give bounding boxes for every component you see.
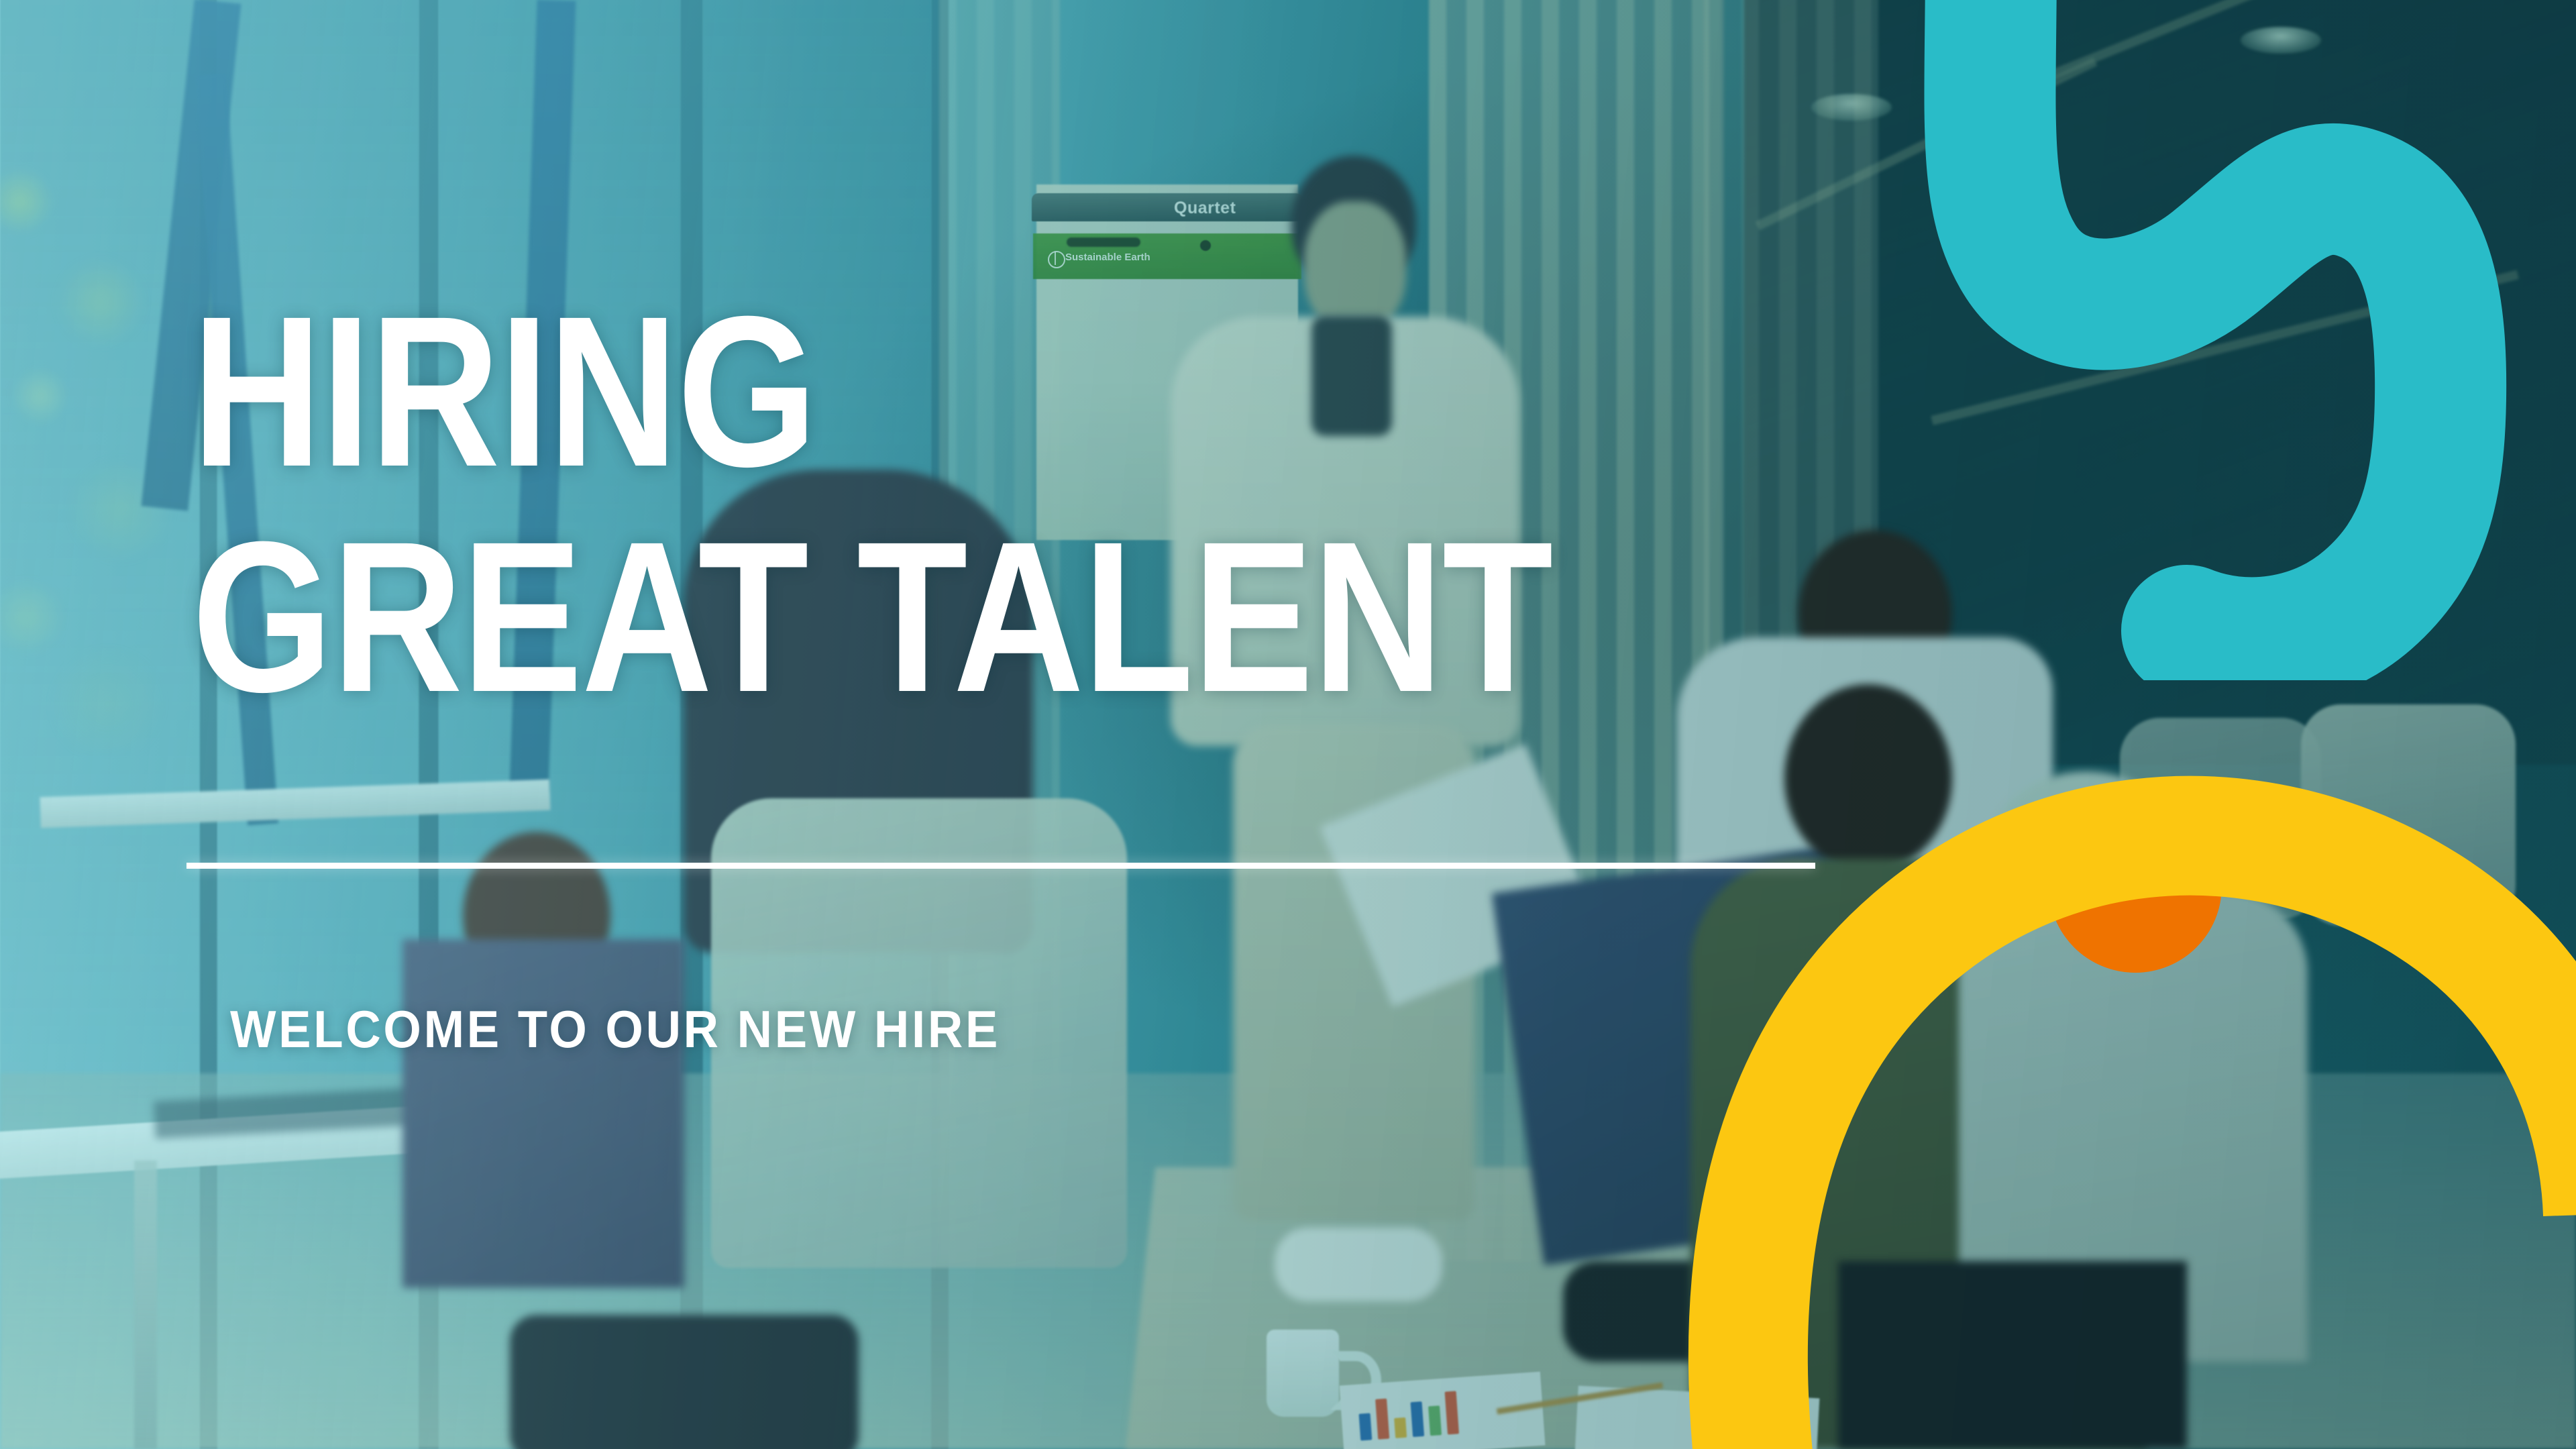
page-title-line-2: GREAT TALENT [192,529,1552,704]
page-title-line-1: HIRING [192,303,816,479]
hiring-banner: Quartet Sustainable Earth [0,0,2576,1449]
subtitle-text: WELCOME TO OUR NEW HIRE [230,999,1000,1060]
title-divider [186,863,1815,869]
